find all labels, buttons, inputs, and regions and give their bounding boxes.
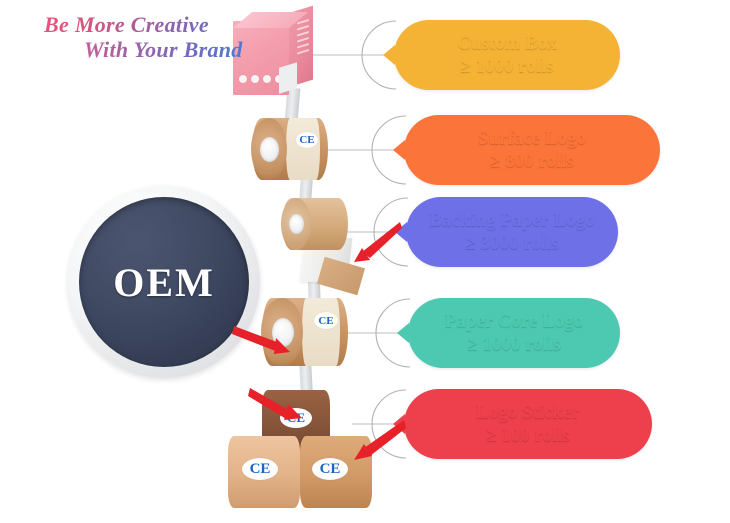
badge-quantity: ≥ 100 rolls xyxy=(486,424,570,447)
badge-quantity: ≥ 1000 rolls xyxy=(467,333,560,356)
badge-notch xyxy=(393,140,405,160)
oem-label: OEM xyxy=(113,259,215,306)
badge-custom-box[interactable]: Custom Box ≥ 1000 rolls xyxy=(394,20,620,90)
badge-title: Surface Logo xyxy=(478,127,586,150)
badge-quantity: ≥ 800 rolls xyxy=(490,150,574,173)
page-title: Be More Creative With Your Brand xyxy=(44,12,344,62)
badge-surface-logo[interactable]: Surface Logo ≥ 800 rolls xyxy=(404,115,660,185)
arrow-backing-paper-icon xyxy=(336,218,402,266)
oem-disc: OEM xyxy=(79,197,249,367)
badge-title: Logo Sticker xyxy=(476,401,580,424)
headline-line-2: With Your Brand xyxy=(44,37,344,62)
badge-quantity: ≥ 3000 rolls xyxy=(465,232,558,255)
badge-backing-paper-logo[interactable]: Backing Paper Logo ≥ 3000 rolls xyxy=(406,197,618,267)
badge-logo-sticker[interactable]: Logo Sticker ≥ 100 rolls xyxy=(404,389,652,459)
arrow-logo-sticker-right-icon xyxy=(340,418,406,464)
badge-title: Paper Core Logo xyxy=(445,310,584,333)
headline-line-1: Be More Creative xyxy=(44,12,344,37)
arrow-logo-sticker-top-icon xyxy=(248,386,308,430)
badge-notch xyxy=(397,323,409,343)
badge-title: Backing Paper Logo xyxy=(429,209,594,232)
badge-quantity: ≥ 1000 rolls xyxy=(460,55,553,78)
arrow-paper-core-icon xyxy=(232,322,300,362)
infographic-canvas: Be More Creative With Your Brand OEM xyxy=(0,0,730,523)
badge-notch xyxy=(383,45,395,65)
badge-paper-core-logo[interactable]: Paper Core Logo ≥ 1000 rolls xyxy=(408,298,620,368)
badge-title: Custom Box xyxy=(457,32,557,55)
